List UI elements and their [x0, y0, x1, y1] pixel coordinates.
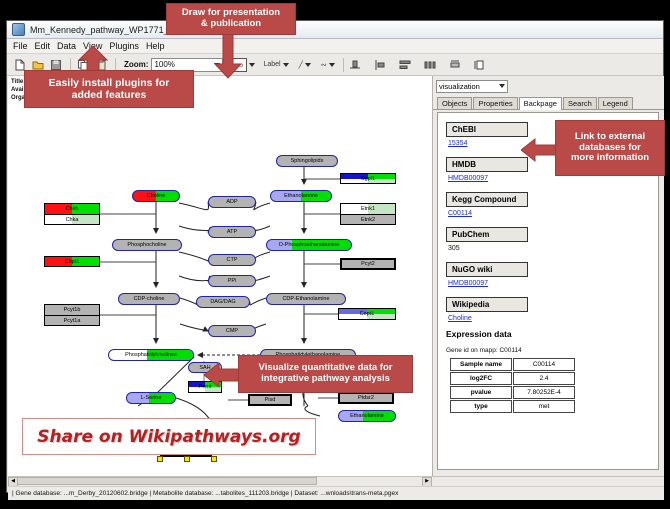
- node-etnk2[interactable]: Etnk2: [341, 214, 395, 224]
- node-ptdsr2[interactable]: Ptdsr2: [338, 392, 394, 404]
- node-adp[interactable]: ADP: [208, 196, 256, 208]
- tab-objects[interactable]: Objects: [437, 97, 472, 109]
- zoom-label: Zoom:: [124, 60, 148, 69]
- node-choline-top[interactable]: Choline: [132, 190, 180, 202]
- node-label: Sphingolipids: [291, 158, 324, 164]
- node-chka[interactable]: Chka: [45, 214, 99, 224]
- callout-easily-install-plugins: Easily install plugins for added feature…: [24, 70, 194, 108]
- label-dropdown-text: Label: [263, 61, 280, 68]
- scroll-thumb[interactable]: [17, 477, 317, 485]
- gene-id-on-mapp: Gene id on mapp: C00114: [446, 347, 650, 354]
- db-header-wikipedia: Wikipedia: [446, 297, 528, 312]
- db-header-nugo-wiki: NuGO wiki: [446, 262, 528, 277]
- pathway-canvas[interactable]: Title: Availa Organ: [8, 76, 433, 476]
- table-row: pvalue 7.80252E-4: [450, 386, 575, 399]
- node-label: CDP-choline: [134, 296, 165, 302]
- cell-key: type: [450, 400, 512, 413]
- node-label: Ptdsr2: [358, 395, 374, 401]
- title-bar: Mm_Kennedy_pathway_WP1771_45176.gpml: [7, 21, 663, 39]
- label-dropdown[interactable]: Label: [263, 61, 288, 68]
- node-label: Etnk2: [361, 217, 375, 223]
- table-row: log2FC 2.4: [450, 372, 575, 385]
- visualization-combobox[interactable]: visualization: [436, 80, 508, 93]
- status-bar-text: | Gene database: ...m_Derby_20120602.bri…: [8, 490, 398, 497]
- node-pcyt1a[interactable]: Pcyt1a: [45, 315, 99, 325]
- node-etnk1[interactable]: Etnk1: [341, 204, 395, 214]
- node-label: Cept1: [360, 311, 375, 317]
- cell-value: 7.80252E-4: [513, 386, 575, 399]
- cell-key: pvalue: [450, 386, 512, 399]
- node-cdp-choline[interactable]: CDP-choline: [118, 293, 180, 305]
- align-rows-icon[interactable]: [398, 57, 413, 72]
- node-label: Pisd: [265, 397, 276, 403]
- screenshot-root: Mm_Kennedy_pathway_WP1771_45176.gpml Fil…: [0, 0, 670, 509]
- tab-legend[interactable]: Legend: [598, 97, 633, 109]
- side-panel-tabs: Objects Properties Backpage Search Legen…: [433, 96, 664, 110]
- table-row: type met: [450, 400, 575, 413]
- line-icon: ╱: [299, 61, 303, 69]
- chevron-down-icon: [283, 63, 289, 67]
- node-o-phosphoethanolamine[interactable]: O-Phosphoethanolamine: [266, 239, 352, 251]
- callout-arrow-links: [521, 138, 559, 167]
- line-dropdown[interactable]: ╱: [299, 61, 311, 69]
- callout-link-to-external-databases: Link to external databases for more info…: [555, 120, 665, 176]
- callout-line-2: integrative pathway analysis: [259, 374, 393, 385]
- visualization-row: visualization: [433, 76, 664, 96]
- tab-search[interactable]: Search: [563, 97, 597, 109]
- node-ppi[interactable]: PPi: [208, 275, 256, 287]
- menu-item-plugins[interactable]: Plugins: [109, 41, 139, 51]
- cell-key: log2FC: [450, 372, 512, 385]
- node-label: Chpt1: [65, 259, 80, 265]
- status-bar: | Gene database: ...m_Derby_20120602.bri…: [8, 486, 664, 500]
- callout-line-3: more information: [571, 153, 649, 164]
- node-label: CMP: [226, 328, 238, 334]
- node-pisd[interactable]: Pisd: [248, 394, 292, 406]
- node-label: Chka: [66, 217, 79, 223]
- node-cmp[interactable]: CMP: [208, 325, 256, 337]
- db-header-pubchem: PubChem: [446, 227, 528, 242]
- node-label: Pcyt1b: [64, 307, 81, 313]
- callout-line-2: & publication: [182, 19, 280, 30]
- node-cept1[interactable]: Cept1: [338, 308, 396, 320]
- node-dag[interactable]: DAG/DAG: [196, 296, 250, 308]
- node-label: Etnk1: [361, 206, 375, 212]
- horizontal-scrollbar[interactable]: ◀ ▶: [8, 477, 432, 485]
- chevron-down-icon: [249, 63, 255, 67]
- cell-value: 2.4: [513, 372, 575, 385]
- node-label: Phosphatidylcholines: [125, 352, 177, 358]
- node-l-serine-left[interactable]: L-Serine: [126, 392, 176, 404]
- node-chkb-chka[interactable]: Chkb Chka: [44, 203, 100, 225]
- node-chkb[interactable]: Chkb: [45, 204, 99, 214]
- node-label: PPi: [228, 278, 237, 284]
- selection-handle-sw[interactable]: [157, 456, 163, 462]
- menu-item-file[interactable]: File: [13, 41, 28, 51]
- node-sphingolipids[interactable]: Sphingolipids: [276, 155, 338, 167]
- selection-handle-s[interactable]: [184, 456, 190, 462]
- expression-data-title: Expression data: [446, 329, 650, 339]
- node-label: Sgpl1: [361, 176, 375, 182]
- node-cdp-ethanolamine[interactable]: CDP-Ethanolamine: [266, 293, 346, 305]
- node-chpt1[interactable]: Chpt1: [44, 256, 100, 267]
- db-link-hmdb[interactable]: HMDB00097: [448, 175, 650, 182]
- node-label: Ethanolamine: [350, 413, 384, 419]
- cell-value: met: [513, 400, 575, 413]
- cell-value: C00114: [513, 358, 575, 371]
- callout-line-1: Link to external: [571, 132, 649, 143]
- zoom-value: 100%: [154, 60, 174, 69]
- db-link-kegg-compound[interactable]: C00114: [448, 210, 650, 217]
- selection-handle-se[interactable]: [211, 456, 217, 462]
- callout-line-2: added features: [49, 89, 170, 101]
- node-ethanolamine[interactable]: Ethanolamine: [270, 190, 332, 202]
- app-icon: [12, 23, 25, 36]
- db-link-wikipedia[interactable]: Choline: [448, 315, 650, 322]
- node-atp[interactable]: ATP: [208, 226, 256, 238]
- node-label: Chkb: [66, 206, 79, 212]
- common-width-icon[interactable]: [448, 57, 463, 72]
- share-banner-text: Share on Wikipathways.org: [37, 427, 300, 447]
- status-area: ◀ ▶ | Gene database: ...m_Derby_20120602…: [8, 476, 664, 493]
- menu-item-help[interactable]: Help: [146, 41, 165, 51]
- visualization-value: visualization: [439, 82, 480, 91]
- tab-backpage[interactable]: Backpage: [519, 97, 562, 110]
- arc-icon: ∾: [321, 61, 327, 69]
- node-label: L-Serine: [141, 395, 162, 401]
- node-label: CTP: [227, 257, 238, 263]
- node-ctp[interactable]: CTP: [208, 254, 256, 266]
- node-etnk1-etnk2[interactable]: Etnk1 Etnk2: [340, 203, 396, 225]
- callout-visualize-quantitative-data: Visualize quantitative data for integrat…: [238, 355, 413, 393]
- db-value-pubchem: 305: [448, 245, 650, 252]
- share-banner: Share on Wikipathways.org: [22, 418, 316, 455]
- node-pcyt1b[interactable]: Pcyt1b: [45, 305, 99, 315]
- node-label: O-Phosphoethanolamine: [279, 242, 340, 248]
- node-phosphocholine[interactable]: Phosphocholine: [112, 239, 182, 251]
- expression-data-table: Sample name C00114 log2FC 2.4 pvalue 7.8…: [449, 357, 576, 414]
- node-sgpl1[interactable]: Sgpl1: [340, 173, 396, 184]
- db-header-chebi: ChEBI: [446, 122, 528, 137]
- node-label: ATP: [227, 229, 237, 235]
- node-pcyt1b-pcyt1a[interactable]: Pcyt1b Pcyt1a: [44, 304, 100, 326]
- node-label: Pcyt1a: [64, 318, 81, 324]
- callout-draw-for-presentation: Draw for presentation & publication: [166, 3, 296, 35]
- menu-item-edit[interactable]: Edit: [35, 41, 51, 51]
- arc-dropdown[interactable]: ∾: [321, 61, 335, 69]
- chevron-down-icon: [499, 84, 505, 88]
- tab-properties[interactable]: Properties: [473, 97, 517, 109]
- cell-key: Sample name: [450, 358, 512, 371]
- align-top-icon[interactable]: [348, 57, 363, 72]
- node-label: ADP: [226, 199, 237, 205]
- chevron-down-icon: [329, 63, 335, 67]
- node-pcyt2[interactable]: Pcyt2: [340, 258, 396, 270]
- toolbar-separator-4: [343, 58, 344, 72]
- db-header-kegg-compound: Kegg Compound: [446, 192, 528, 207]
- node-label: Phosphocholine: [127, 242, 166, 248]
- table-row: Sample name C00114: [450, 358, 575, 371]
- node-label: Pcyt2: [361, 261, 375, 267]
- menu-item-data[interactable]: Data: [57, 41, 76, 51]
- db-link-nugo-wiki[interactable]: HMDB00097: [448, 280, 650, 287]
- node-label: Choline: [147, 193, 166, 199]
- common-height-icon[interactable]: [473, 57, 488, 72]
- node-label: CDP-Ethanolamine: [282, 296, 329, 302]
- callout-line-1: Easily install plugins for: [49, 77, 170, 89]
- align-left-icon[interactable]: [373, 57, 388, 72]
- distribute-icon[interactable]: [423, 57, 438, 72]
- node-ethanolamine-bottom[interactable]: Ethanolamine: [338, 410, 396, 422]
- node-label: Ethanolamine: [284, 193, 318, 199]
- node-label: DAG/DAG: [210, 299, 235, 305]
- node-phosphatidylcholines[interactable]: Phosphatidylcholines: [108, 349, 194, 361]
- chevron-down-icon: [305, 63, 311, 67]
- callout-arrow-draw: [214, 34, 242, 84]
- db-header-hmdb: HMDB: [446, 157, 528, 172]
